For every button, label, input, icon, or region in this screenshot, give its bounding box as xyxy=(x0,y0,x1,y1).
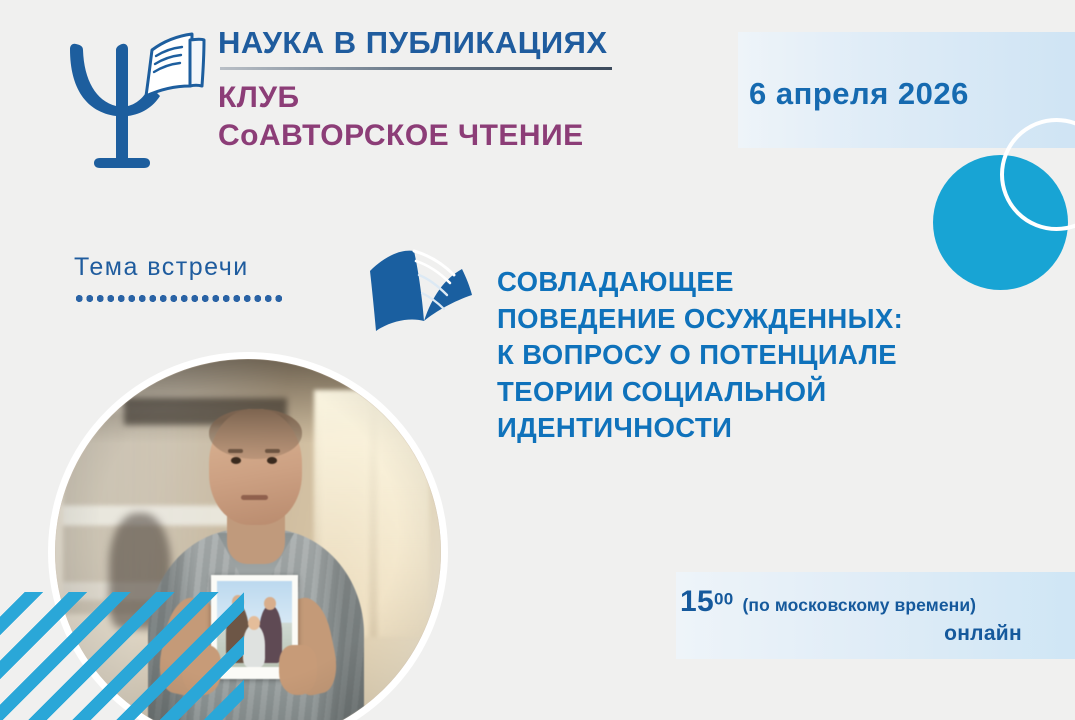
brand-divider xyxy=(220,67,612,70)
title-line-4: ТЕОРИИ СОЦИАЛЬНОЙ xyxy=(497,374,967,411)
event-date: 6 апреля 2026 xyxy=(749,76,969,112)
title-line-2: ПОВЕДЕНИЕ ОСУЖДЕННЫХ: xyxy=(497,301,967,338)
topic-label: Тема встречи xyxy=(74,253,304,282)
title-line-1: СОВЛАДАЮЩЕЕ xyxy=(497,264,967,301)
dotted-divider xyxy=(74,295,284,302)
brand-subtitle-name: СоАВТОРСКОЕ ЧТЕНИЕ xyxy=(218,117,658,155)
brand-title: НАУКА В ПУБЛИКАЦИЯХ xyxy=(218,26,658,60)
open-book-icon xyxy=(366,247,476,339)
event-title: СОВЛАДАЮЩЕЕ ПОВЕДЕНИЕ ОСУЖДЕННЫХ: К ВОПР… xyxy=(497,264,967,447)
diagonal-stripes-icon xyxy=(0,592,244,720)
title-line-5: ИДЕНТИЧНОСТИ xyxy=(497,410,967,447)
event-timezone-note: (по московскому времени) xyxy=(743,595,977,615)
title-line-3: К ВОПРОСУ О ПОТЕНЦИАЛЕ xyxy=(497,337,967,374)
event-time-hours: 15 xyxy=(680,585,714,618)
event-time-line: 1500(по московскому времени) xyxy=(676,585,1060,619)
topic-label-block: Тема встречи xyxy=(74,253,304,302)
psi-book-logo-icon xyxy=(46,30,206,176)
poster-canvas: НАУКА В ПУБЛИКАЦИЯХ КЛУБ СоАВТОРСКОЕ ЧТЕ… xyxy=(0,0,1075,720)
logo-block: НАУКА В ПУБЛИКАЦИЯХ КЛУБ СоАВТОРСКОЕ ЧТЕ… xyxy=(46,26,666,176)
event-format: онлайн xyxy=(676,622,1022,646)
event-time-minutes: 00 xyxy=(714,590,734,609)
logo-text-block: НАУКА В ПУБЛИКАЦИЯХ КЛУБ СоАВТОРСКОЕ ЧТЕ… xyxy=(218,26,658,154)
brand-subtitle-club: КЛУБ xyxy=(218,79,658,117)
